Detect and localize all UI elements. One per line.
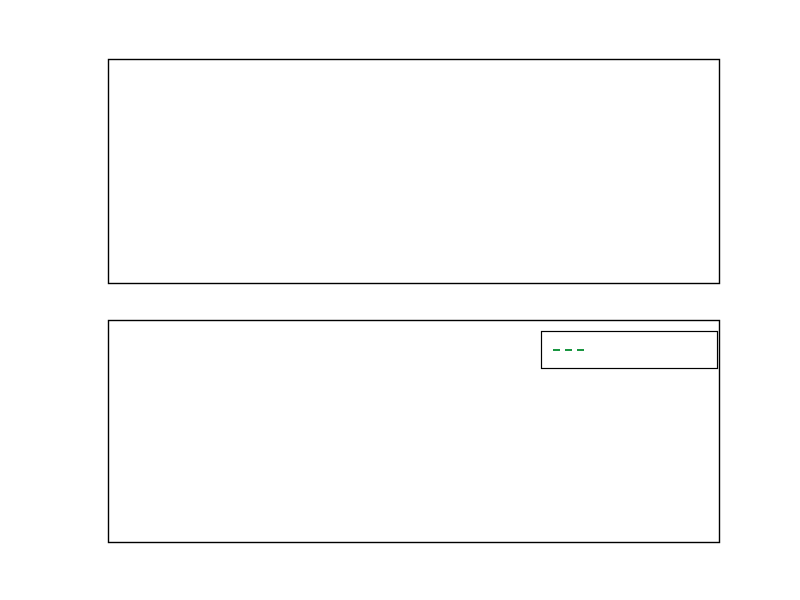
bottom-panel-cumulative-histogram xyxy=(109,321,720,543)
matplotlib-figure xyxy=(0,0,800,600)
top-plot-frame xyxy=(109,60,720,284)
top-panel-differential-histogram xyxy=(109,60,720,284)
figure-canvas xyxy=(0,0,800,600)
legend[interactable] xyxy=(542,332,718,369)
